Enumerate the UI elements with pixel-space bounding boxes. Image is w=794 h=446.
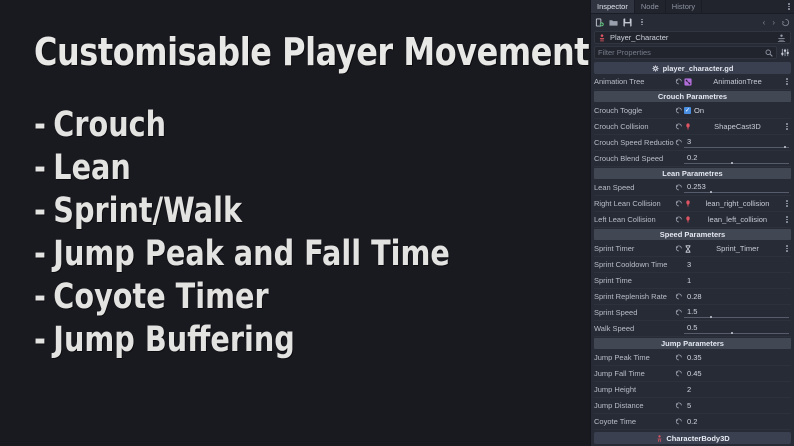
- bullet-dash: -: [34, 190, 46, 233]
- property-value[interactable]: ✓On: [684, 106, 791, 115]
- number-value[interactable]: 3: [684, 260, 691, 269]
- search-input[interactable]: Filter Properties: [594, 46, 777, 59]
- property-list: Animation TreeAnimationTreeCrouch Parame…: [591, 74, 794, 432]
- revert-icon[interactable]: [674, 308, 684, 318]
- property-options-icon[interactable]: [780, 48, 791, 57]
- search-icon[interactable]: [765, 49, 773, 57]
- back-button[interactable]: ‹: [762, 18, 767, 27]
- revert-icon[interactable]: [674, 183, 684, 193]
- feature-label: Coyote Timer: [53, 277, 268, 317]
- feature-label: Jump Buffering: [53, 320, 295, 360]
- slider-track[interactable]: [684, 147, 789, 148]
- feature-list: -Crouch-Lean-Sprint/Walk-Jump Peak and F…: [34, 104, 590, 362]
- object-selector[interactable]: Player_Character ⱟ: [594, 31, 791, 44]
- revert-icon[interactable]: [674, 77, 684, 87]
- checkbox-label: On: [694, 106, 704, 115]
- property-row[interactable]: Sprint Time1: [594, 273, 791, 289]
- property-value[interactable]: 5: [684, 401, 791, 410]
- tab-node[interactable]: Node: [635, 0, 666, 13]
- kebab-menu-icon[interactable]: [637, 19, 647, 26]
- property-value[interactable]: lean_left_collision: [684, 215, 791, 224]
- slider-knob[interactable]: [731, 162, 733, 164]
- section-header[interactable]: Lean Parametres: [594, 168, 791, 179]
- section-header[interactable]: Speed Parameters: [594, 229, 791, 240]
- revert-icon[interactable]: [674, 353, 684, 363]
- filter-row: Filter Properties: [591, 44, 794, 59]
- resource-menu-icon[interactable]: [783, 78, 791, 85]
- slider-value: 1.5: [687, 307, 697, 316]
- resource-name: Sprint_Timer: [695, 244, 780, 253]
- slider-field[interactable]: 1.5: [684, 307, 791, 319]
- gear-icon: [652, 64, 660, 72]
- property-value[interactable]: 2: [684, 385, 791, 394]
- resource-name: AnimationTree: [695, 77, 780, 86]
- inspector-toolbar: ‹ ›: [591, 14, 794, 30]
- status-badge[interactable]: CharacterBody3D: [594, 432, 791, 444]
- tabbar-spacer: [702, 0, 784, 13]
- resource-name: lean_right_collision: [695, 199, 780, 208]
- property-value[interactable]: Sprint_Timer: [684, 244, 791, 253]
- bullet-dash: -: [34, 233, 46, 276]
- feature-item: -Lean: [34, 147, 490, 190]
- property-value[interactable]: 0.253: [684, 182, 791, 194]
- property-value[interactable]: ShapeCast3D: [684, 122, 791, 131]
- property-label: Jump Distance: [594, 401, 674, 410]
- slider-value: 0.2: [687, 153, 697, 162]
- number-value[interactable]: 0.45: [684, 369, 702, 378]
- property-value[interactable]: 1.5: [684, 307, 791, 319]
- property-row[interactable]: Jump Height2: [594, 382, 791, 398]
- property-row[interactable]: Sprint TimerSprint_Timer: [594, 241, 791, 257]
- feature-item: -Jump Buffering: [34, 319, 490, 362]
- number-value[interactable]: 0.35: [684, 353, 702, 362]
- open-documentation-icon[interactable]: [776, 33, 787, 42]
- object-name: Player_Character: [610, 33, 768, 42]
- history-icon[interactable]: [781, 18, 790, 27]
- new-resource-icon[interactable]: [595, 18, 604, 27]
- slider-field[interactable]: 0.253: [684, 182, 791, 194]
- revert-icon[interactable]: [674, 106, 684, 116]
- tab-history[interactable]: History: [666, 0, 702, 13]
- slider-knob[interactable]: [710, 191, 712, 193]
- inspector-panel: InspectorNodeHistory ‹ › Player_Char: [590, 0, 794, 446]
- slider-value: 0.5: [687, 323, 697, 332]
- property-value[interactable]: 0.45: [684, 369, 791, 378]
- inspector-tabbar: InspectorNodeHistory: [591, 0, 794, 14]
- slider-field[interactable]: 0.2: [684, 153, 791, 165]
- property-row[interactable]: Sprint Cooldown Time3: [594, 257, 791, 273]
- resource-menu-icon[interactable]: [783, 123, 791, 130]
- resource-menu-icon[interactable]: [783, 216, 791, 223]
- resource-name: lean_left_collision: [695, 215, 780, 224]
- feature-label: Jump Peak and Fall Time: [53, 234, 450, 274]
- property-value[interactable]: 0.2: [684, 153, 791, 165]
- property-value[interactable]: AnimationTree: [684, 77, 791, 86]
- feature-item: -Jump Peak and Fall Time: [34, 233, 490, 276]
- revert-icon[interactable]: [674, 215, 684, 225]
- property-row[interactable]: Animation TreeAnimationTree: [594, 74, 791, 90]
- revert-icon[interactable]: [674, 369, 684, 379]
- property-label: Sprint Time: [594, 276, 674, 285]
- property-value[interactable]: 0.5: [684, 323, 791, 335]
- property-row[interactable]: Sprint Speed1.5: [594, 305, 791, 321]
- script-header[interactable]: player_character.gd: [594, 62, 791, 74]
- property-row[interactable]: Right Lean Collisionlean_right_collision: [594, 196, 791, 212]
- feature-label: Lean: [53, 148, 131, 188]
- property-label: Jump Peak Time: [594, 353, 674, 362]
- shapecast3d-icon: [684, 200, 692, 208]
- property-row[interactable]: Sprint Replenish Rate0.28: [594, 289, 791, 305]
- search-placeholder: Filter Properties: [598, 48, 765, 57]
- property-label: Crouch Speed Reduction: [594, 138, 674, 147]
- section-header[interactable]: Crouch Parametres: [594, 91, 791, 102]
- property-value[interactable]: 3: [684, 260, 791, 269]
- feature-item: -Sprint/Walk: [34, 190, 490, 233]
- property-label: Left Lean Collision: [594, 215, 674, 224]
- resource-menu-icon[interactable]: [783, 200, 791, 207]
- checkbox[interactable]: ✓: [684, 107, 691, 114]
- slider-value: 0.253: [687, 182, 706, 191]
- property-label: Right Lean Collision: [594, 199, 674, 208]
- property-label: Sprint Timer: [594, 244, 674, 253]
- property-label: Sprint Cooldown Time: [594, 260, 674, 269]
- status-label: CharacterBody3D: [666, 434, 729, 443]
- property-label: Jump Height: [594, 385, 674, 394]
- property-value[interactable]: 0.35: [684, 353, 791, 362]
- slider-track[interactable]: [684, 192, 789, 193]
- resource-name: ShapeCast3D: [695, 122, 780, 131]
- number-value[interactable]: 0.2: [684, 417, 697, 426]
- number-value[interactable]: 5: [684, 401, 691, 410]
- revert-icon[interactable]: [674, 138, 684, 148]
- property-value[interactable]: 0.28: [684, 292, 791, 301]
- slider-value: 3: [687, 137, 691, 146]
- property-value[interactable]: lean_right_collision: [684, 199, 791, 208]
- number-value[interactable]: 0.28: [684, 292, 702, 301]
- shapecast3d-icon: [684, 216, 692, 224]
- property-value[interactable]: 3: [684, 137, 791, 149]
- revert-icon[interactable]: [674, 417, 684, 427]
- slider-field[interactable]: 3: [684, 137, 791, 149]
- slider-track[interactable]: [684, 333, 789, 334]
- property-label: Animation Tree: [594, 77, 674, 86]
- slider-knob[interactable]: [710, 316, 712, 318]
- revert-icon[interactable]: [674, 122, 684, 132]
- revert-icon[interactable]: [674, 244, 684, 254]
- feature-item: -Crouch: [34, 104, 490, 147]
- property-row[interactable]: Crouch Toggle✓On: [594, 103, 791, 119]
- slider-track[interactable]: [684, 163, 789, 164]
- property-row[interactable]: Left Lean Collisionlean_left_collision: [594, 212, 791, 228]
- feature-label: Crouch: [53, 105, 166, 145]
- property-value[interactable]: 1: [684, 276, 791, 285]
- property-label: Crouch Toggle: [594, 106, 674, 115]
- property-row[interactable]: Crouch CollisionShapeCast3D: [594, 119, 791, 135]
- forward-button[interactable]: ›: [771, 18, 776, 27]
- slider-knob[interactable]: [784, 146, 786, 148]
- property-label: Crouch Collision: [594, 122, 674, 131]
- open-folder-icon[interactable]: [609, 18, 618, 27]
- script-name: player_character.gd: [663, 64, 734, 73]
- slider-track[interactable]: [684, 317, 789, 318]
- bullet-dash: -: [34, 276, 46, 319]
- property-row[interactable]: Jump Peak Time0.35: [594, 350, 791, 366]
- resource-menu-icon[interactable]: [783, 245, 791, 252]
- property-row[interactable]: Crouch Speed Reduction3: [594, 135, 791, 151]
- character-body-icon: [598, 34, 606, 42]
- slider-knob[interactable]: [731, 332, 733, 334]
- property-row[interactable]: Walk Speed0.5: [594, 321, 791, 337]
- save-icon[interactable]: [623, 18, 632, 27]
- property-label: Jump Fall Time: [594, 369, 674, 378]
- revert-icon[interactable]: [674, 401, 684, 411]
- bullet-dash: -: [34, 104, 46, 147]
- property-row[interactable]: Lean Speed0.253: [594, 180, 791, 196]
- revert-icon[interactable]: [674, 292, 684, 302]
- page-title: Customisable Player Movement: [34, 30, 501, 74]
- section-header[interactable]: Jump Parameters: [594, 338, 791, 349]
- bullet-dash: -: [34, 147, 46, 190]
- revert-icon[interactable]: [674, 199, 684, 209]
- feature-label: Sprint/Walk: [53, 191, 242, 231]
- bullet-dash: -: [34, 319, 46, 362]
- character-body-icon: [655, 434, 663, 442]
- property-row[interactable]: Crouch Blend Speed0.2: [594, 151, 791, 167]
- property-value[interactable]: 0.2: [684, 417, 791, 426]
- property-label: Lean Speed: [594, 183, 674, 192]
- property-label: Crouch Blend Speed: [594, 154, 674, 163]
- presentation-slide: Customisable Player Movement -Crouch-Lea…: [0, 0, 590, 446]
- animation-tree-icon: [684, 78, 692, 86]
- timer-icon: [684, 245, 692, 253]
- slider-field[interactable]: 0.5: [684, 323, 791, 335]
- number-value[interactable]: 2: [684, 385, 691, 394]
- number-value[interactable]: 1: [684, 276, 691, 285]
- property-row[interactable]: Jump Distance5: [594, 398, 791, 414]
- shapecast3d-icon: [684, 123, 692, 131]
- property-label: Sprint Replenish Rate: [594, 292, 674, 301]
- tab-inspector[interactable]: Inspector: [591, 0, 635, 13]
- property-row[interactable]: Jump Fall Time0.45: [594, 366, 791, 382]
- property-row[interactable]: Coyote Time0.2: [594, 414, 791, 430]
- tabbar-menu-icon[interactable]: [784, 0, 794, 13]
- property-label: Coyote Time: [594, 417, 674, 426]
- property-label: Sprint Speed: [594, 308, 674, 317]
- feature-item: -Coyote Timer: [34, 276, 490, 319]
- property-label: Walk Speed: [594, 324, 674, 333]
